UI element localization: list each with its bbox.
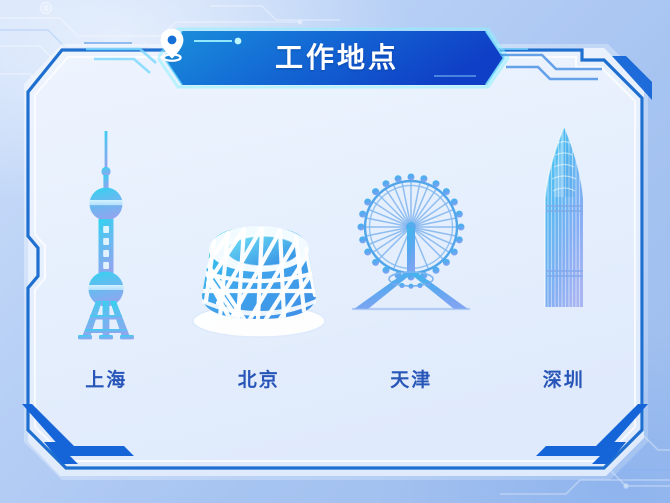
page-title: 工作地点: [275, 44, 399, 72]
city-item-shenzhen[interactable]: 深圳: [494, 123, 634, 392]
city-label-beijing: 北京: [238, 365, 280, 392]
tianjin-eye-ferris-wheel-icon: [346, 123, 476, 353]
city-label-shanghai: 上海: [85, 365, 127, 392]
city-label-tianjin: 天津: [390, 365, 432, 392]
city-item-tianjin[interactable]: 天津: [341, 123, 481, 392]
work-location-card: 工作地点: [0, 0, 670, 503]
oriental-pearl-tower-icon: [50, 123, 162, 353]
city-label-shenzhen: 深圳: [543, 365, 585, 392]
title-banner: 工作地点: [158, 27, 510, 89]
location-pin-icon: [158, 28, 186, 62]
city-item-beijing[interactable]: 北京: [189, 123, 329, 392]
ping-an-finance-tower-icon: [509, 123, 619, 353]
city-item-shanghai[interactable]: 上海: [36, 123, 176, 392]
city-list: 上海: [30, 92, 640, 392]
birds-nest-stadium-icon: [184, 123, 334, 353]
banner-right-decoration: [498, 41, 608, 93]
